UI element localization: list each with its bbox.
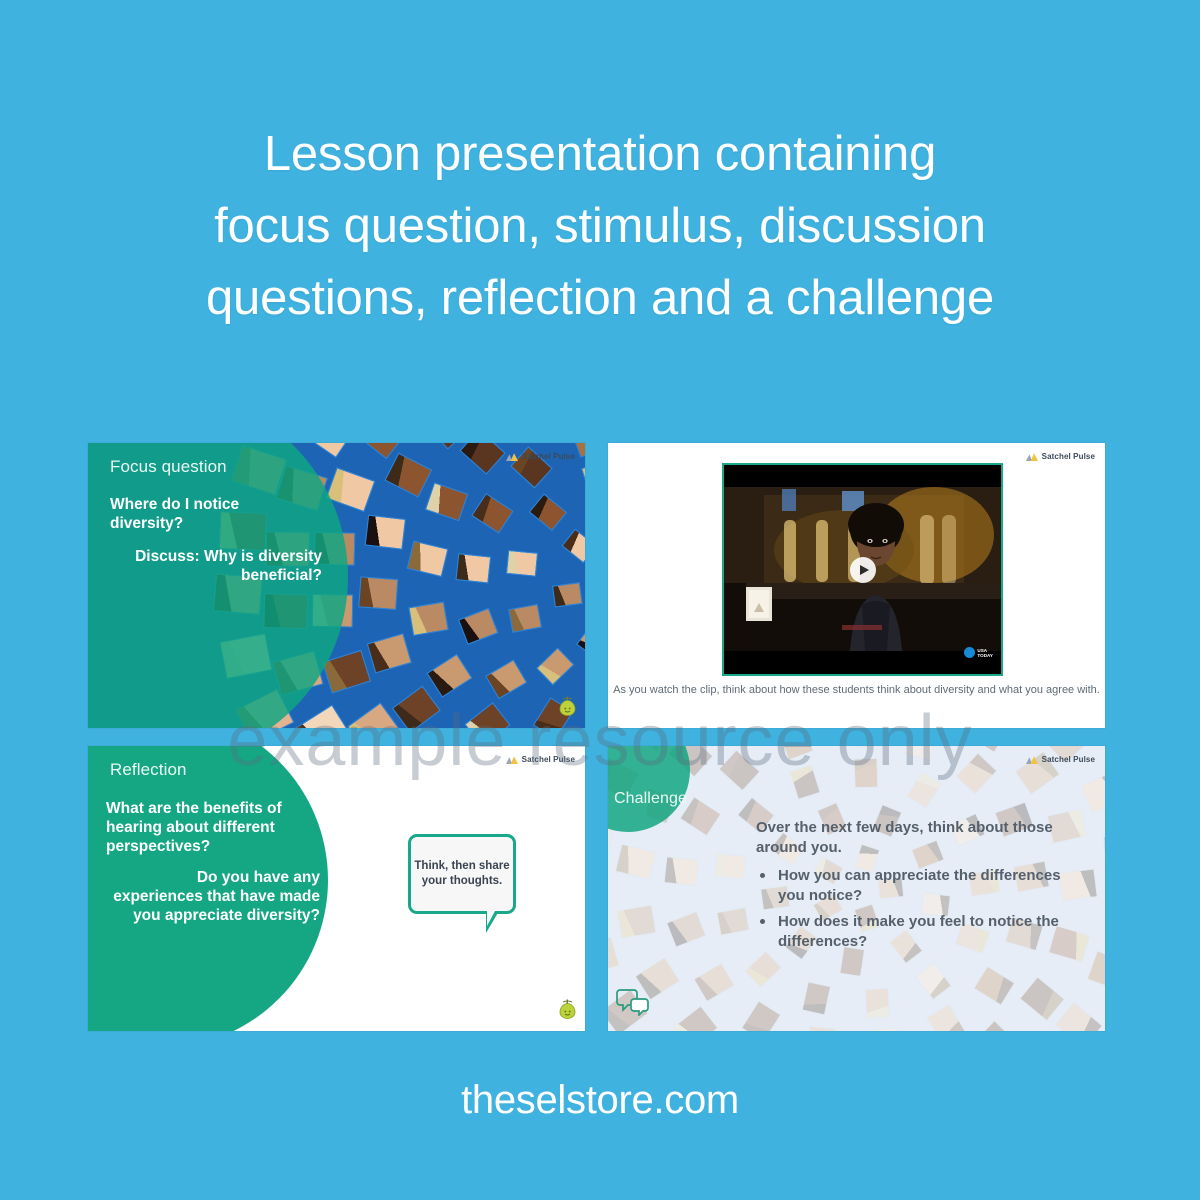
mosaic-tile xyxy=(608,936,620,976)
mosaic-tile xyxy=(789,764,821,800)
mosaic-tile xyxy=(1102,834,1105,867)
mosaic-tile xyxy=(906,771,943,810)
mosaic-tile xyxy=(742,1001,782,1031)
mosaic-tile xyxy=(904,746,939,761)
slide-reflection[interactable]: Reflection What are the benefits of hear… xyxy=(88,746,585,1031)
mosaic-tile xyxy=(359,576,400,610)
page-title-line-1: Lesson presentation containing xyxy=(0,118,1200,190)
slide-challenge[interactable]: Challenge Over the next few days, think … xyxy=(608,746,1105,1031)
challenge-bullet: How you can appreciate the differences y… xyxy=(756,866,1086,905)
play-icon[interactable] xyxy=(850,557,876,583)
pear-icon xyxy=(559,999,576,1024)
footer-url: theselstore.com xyxy=(0,1078,1200,1123)
think-share-bubble-text: Think, then share your thoughts. xyxy=(411,859,513,889)
satchel-pulse-logo: Satchel Pulse xyxy=(1026,452,1095,461)
mosaic-tile xyxy=(465,702,511,728)
mosaic-tile xyxy=(300,443,356,458)
mosaic-tile xyxy=(807,1026,837,1031)
reflection-text-2: Do you have any experiences that have ma… xyxy=(106,868,320,925)
mosaic-tile xyxy=(975,1020,1021,1031)
slide-kicker: Focus question xyxy=(110,457,227,477)
mosaic-tile xyxy=(615,844,656,880)
mountain-icon xyxy=(506,452,518,461)
mosaic-tile xyxy=(529,493,568,531)
mosaic-tile xyxy=(718,749,760,791)
mosaic-tile xyxy=(392,685,441,728)
mosaic-tile xyxy=(407,541,448,577)
video-caption: As you watch the clip, think about how t… xyxy=(608,683,1105,698)
reflection-text-1: What are the benefits of hearing about d… xyxy=(106,799,316,856)
mosaic-tile xyxy=(458,608,498,645)
satchel-pulse-logo: Satchel Pulse xyxy=(1026,755,1095,764)
mosaic-tile xyxy=(456,554,492,584)
mosaic-tile xyxy=(506,549,538,576)
slide-kicker: Challenge xyxy=(614,790,687,808)
challenge-bullet-list: How you can appreciate the differences y… xyxy=(756,866,1086,951)
focus-question-text-2: Discuss: Why is diversity beneficial? xyxy=(110,547,322,585)
mosaic-tile xyxy=(347,702,400,728)
mosaic-tile xyxy=(508,603,542,632)
mosaic-tile xyxy=(384,453,432,498)
mosaic-tile xyxy=(664,857,700,887)
satchel-pulse-logo: Satchel Pulse xyxy=(506,755,575,764)
challenge-bullet: How does it make you feel to notice the … xyxy=(756,912,1086,951)
speech-bubbles-icon xyxy=(616,988,650,1021)
mosaic-tile xyxy=(471,493,513,533)
mosaic-tile xyxy=(552,582,582,608)
mosaic-tile xyxy=(367,633,413,673)
mosaic-tile xyxy=(562,529,585,563)
mosaic-tile xyxy=(486,659,528,699)
mosaic-tile xyxy=(581,461,585,497)
mosaic-tile xyxy=(1054,1001,1103,1031)
usa-today-watermark: USATODAY xyxy=(964,647,993,658)
satchel-pulse-logo-text: Satchel Pulse xyxy=(522,755,575,764)
mosaic-tile xyxy=(1079,770,1105,814)
slide-grid: Focus question Where do I notice diversi… xyxy=(88,443,1113,1031)
mosaic-tile xyxy=(974,966,1016,1006)
page-title-line-2: focus question, stimulus, discussion xyxy=(0,190,1200,262)
mountain-icon xyxy=(1026,452,1038,461)
mosaic-tile xyxy=(294,704,350,728)
mosaic-tile xyxy=(576,622,585,657)
slide-kicker: Reflection xyxy=(110,760,187,780)
satchel-pulse-logo-text: Satchel Pulse xyxy=(522,452,575,461)
mosaic-tile xyxy=(617,905,657,939)
mosaic-tile xyxy=(409,602,449,636)
mosaic-tile xyxy=(694,962,736,1002)
focus-question-circle xyxy=(88,443,348,728)
mosaic-tile xyxy=(673,1005,719,1031)
mosaic-tile xyxy=(536,647,575,686)
mosaic-tile xyxy=(915,962,953,1001)
mosaic-tile xyxy=(714,852,746,879)
mosaic-tile xyxy=(872,1027,901,1031)
mosaic-tile xyxy=(801,981,831,1016)
mosaic-tile xyxy=(1086,950,1105,992)
mountain-icon xyxy=(1026,755,1038,764)
mosaic-tile xyxy=(955,752,997,794)
mosaic-tile xyxy=(716,906,750,935)
mosaic-tile xyxy=(864,987,890,1019)
pear-icon xyxy=(559,696,576,721)
satchel-pulse-logo-text: Satchel Pulse xyxy=(1042,755,1095,764)
mosaic-tile xyxy=(459,443,505,474)
mountain-icon xyxy=(506,755,518,764)
slide-stimulus-video[interactable]: Satchel Pulse xyxy=(608,443,1105,728)
mosaic-tile xyxy=(666,911,706,948)
think-share-bubble: Think, then share your thoughts. xyxy=(408,834,516,914)
mosaic-tile xyxy=(926,1003,966,1031)
bubble-tail-inner xyxy=(487,911,495,926)
slide-focus-question[interactable]: Focus question Where do I notice diversi… xyxy=(88,443,585,728)
mosaic-tile xyxy=(1019,976,1065,1021)
mosaic-tile xyxy=(424,482,467,521)
focus-question-text-1: Where do I notice diversity? xyxy=(110,495,308,533)
page-title: Lesson presentation containing focus que… xyxy=(0,118,1200,334)
video-player[interactable]: USATODAY xyxy=(722,463,1003,676)
mosaic-tile xyxy=(853,757,878,788)
mosaic-tile xyxy=(427,654,473,698)
mosaic-tile xyxy=(970,746,1013,752)
mosaic-tile xyxy=(843,746,873,748)
mosaic-tile xyxy=(364,515,406,550)
satchel-pulse-logo-text: Satchel Pulse xyxy=(1042,452,1095,461)
satchel-pulse-logo: Satchel Pulse xyxy=(506,452,575,461)
challenge-intro: Over the next few days, think about thos… xyxy=(756,818,1086,857)
mosaic-tile xyxy=(777,746,813,760)
page-title-line-3: questions, reflection and a challenge xyxy=(0,262,1200,334)
